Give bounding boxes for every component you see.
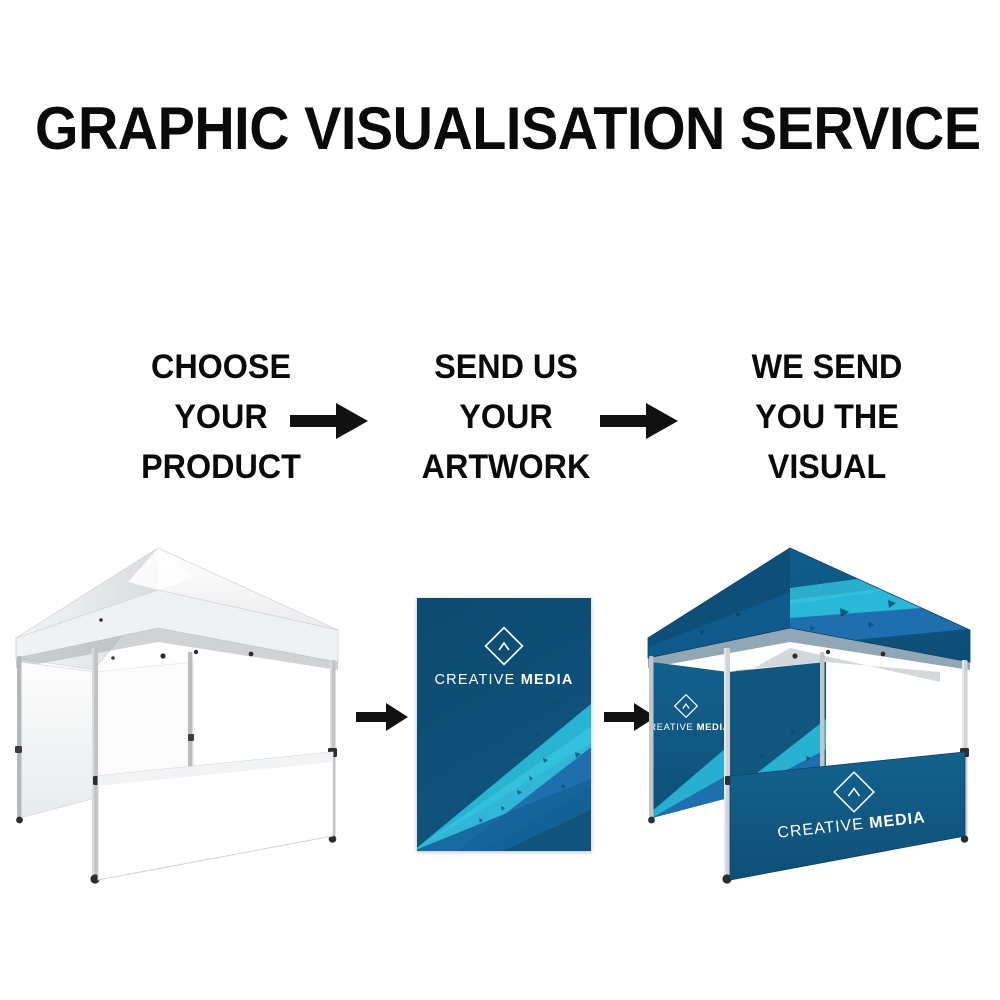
blank-tent-illustration [8, 530, 368, 920]
step3-line2: YOU THE [695, 392, 959, 442]
step1-line1: CHOOSE [85, 342, 357, 392]
side-wall-brand-text: CREATIVE MEDIA [642, 722, 730, 733]
artwork-brand-text: CREATIVE MEDIA [434, 672, 573, 688]
step3-line1: WE SEND [695, 342, 959, 392]
artwork-brand-line2: MEDIA [521, 672, 574, 688]
step-label-send-artwork: SEND US YOUR ARTWORK [384, 342, 627, 492]
step1-line3: PRODUCT [85, 442, 357, 492]
arrow-right-icon [600, 398, 678, 444]
artwork-panel: CREATIVE MEDIA [417, 598, 591, 851]
arrow-right-icon [290, 398, 368, 444]
step3-line3: VISUAL [695, 442, 959, 492]
step2-line2: YOUR [384, 392, 627, 442]
arrow-right-icon [356, 700, 408, 734]
artwork-brand-line1: CREATIVE [434, 672, 520, 688]
step2-line1: SEND US [384, 342, 627, 392]
step2-line3: ARTWORK [384, 442, 627, 492]
page-title: GRAPHIC VISUALISATION SERVICE [35, 98, 965, 160]
step-label-receive-visual: WE SEND YOU THE VISUAL [695, 342, 959, 492]
infographic-page: GRAPHIC VISUALISATION SERVICE CHOOSE YOU… [0, 0, 1000, 1000]
printed-tent-illustration: CREATIVE MEDIA [640, 530, 1000, 920]
steps-row: CHOOSE YOUR PRODUCT SEND US YOUR ARTWORK… [0, 342, 1000, 492]
